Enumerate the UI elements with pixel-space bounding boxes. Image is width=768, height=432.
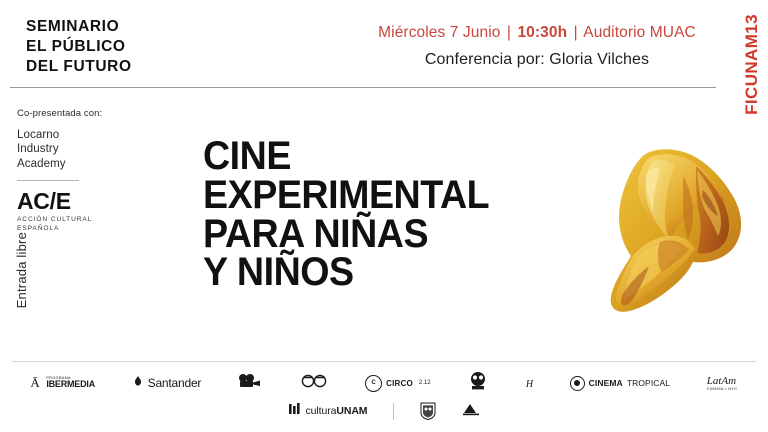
cultura-unam-mark-icon [288,402,302,420]
header-separator-1: | [505,24,513,41]
partner-line-3: Academy [17,157,167,171]
cinema-tropical-wordmark-2: TROPICAL [627,378,670,388]
logo-ambulante [462,402,480,421]
fabric-artwork [597,138,762,320]
event-header: Miércoles 7 Junio | 10:30h | Auditorio M… [352,24,722,69]
headline-line-4: Y NIÑOS [203,253,489,292]
cultura-prefix: cultura [306,405,337,417]
film-camera-icon [238,373,264,394]
poster-root: SEMINARIO EL PÚBLICO DEL FUTURO Miércole… [0,0,768,432]
event-venue: Auditorio MUAC [583,24,696,41]
admission-note: Entrada libre [14,232,29,308]
footer-vertical-divider-1 [393,403,394,420]
unam-suffix: UNAM [336,405,367,417]
circo-number: 2.12 [419,380,431,386]
cinema-tropical-wordmark-1: CINEMA [589,378,623,388]
headline-line-3: PARA NIÑAS [203,215,489,254]
latam-subtitle: CINEMA • NYC [707,387,738,391]
logo-cinema-tropical: CINEMA TROPICAL [570,376,670,391]
ace-subtitle-line-2: ESPAÑOLA [17,225,167,234]
unam-shield-icon [420,402,436,420]
glasses-icon [300,374,328,393]
santander-wordmark: Santander [148,376,202,390]
latam-wordmark: LatAm [707,375,738,387]
cinema-tropical-dot-icon [570,376,585,391]
ace-logotype: AC/E [17,190,167,213]
logo-ibermedia: Ā PROGRAMA IBERMEDIA [30,375,95,391]
header-separator-2: | [572,24,580,41]
santander-flame-icon [132,374,144,392]
sponsor-row-secondary: culturaUNAM [12,398,756,424]
footer-divider [12,361,756,362]
ace-subtitle-line-1: ACCIÓN CULTURAL [17,216,167,225]
event-speaker: Conferencia por: Gloria Vilches [352,51,722,69]
logo-cine-club [467,372,489,395]
seminar-title-line-1: SEMINARIO [26,17,132,37]
partner-ace: AC/E ACCIÓN CULTURAL ESPAÑOLA [17,190,167,234]
header-divider [10,87,716,88]
circo-wordmark: CIRCO [386,379,413,388]
partner-line-1: Locarno [17,128,167,142]
cultura-unam-wordmark: culturaUNAM [306,405,368,417]
logo-eu-cinema [300,374,328,393]
ace-subtitle: ACCIÓN CULTURAL ESPAÑOLA [17,216,167,234]
logo-unam-shield [420,402,436,420]
circo-ring-icon: C [365,375,382,392]
copresented-label: Co-presentada con: [17,108,167,119]
sidebar-divider [17,180,79,181]
h-wordmark: H [526,379,533,390]
logo-h: H [526,374,533,392]
festival-brand-tag: FICUNAM13 [742,14,762,115]
event-time: 10:30h [517,24,567,41]
headline-line-2: EXPERIMENTAL [203,176,489,215]
partner-locarno: Locarno Industry Academy [17,128,167,171]
seminar-title-line-2: EL PÚBLICO [26,37,132,57]
event-datetime-line: Miércoles 7 Junio | 10:30h | Auditorio M… [352,24,722,42]
partner-line-2: Industry [17,142,167,156]
ibermedia-mark-icon: Ā [30,375,42,391]
main-headline: CINE EXPERIMENTAL PARA NIÑAS Y NIÑOS [203,137,489,292]
film-reel-icon [467,372,489,395]
headline-line-1: CINE [203,137,489,176]
logo-latam: LatAm CINEMA • NYC [707,375,738,391]
ibermedia-wordmark: IBERMEDIA [46,380,95,389]
logo-cultura-unam: culturaUNAM [288,402,368,420]
seminar-title-line-3: DEL FUTURO [26,57,132,77]
logo-imcine [238,373,264,394]
seminar-title: SEMINARIO EL PÚBLICO DEL FUTURO [26,17,132,76]
ambulante-mark-icon [462,402,480,421]
logo-santander: Santander [132,374,202,392]
sidebar: Co-presentada con: Locarno Industry Acad… [17,108,167,234]
event-date: Miércoles 7 Junio [378,24,500,41]
sponsor-row-primary: Ā PROGRAMA IBERMEDIA Santander [12,368,756,398]
logo-circo: C CIRCO 2.12 [365,375,430,392]
